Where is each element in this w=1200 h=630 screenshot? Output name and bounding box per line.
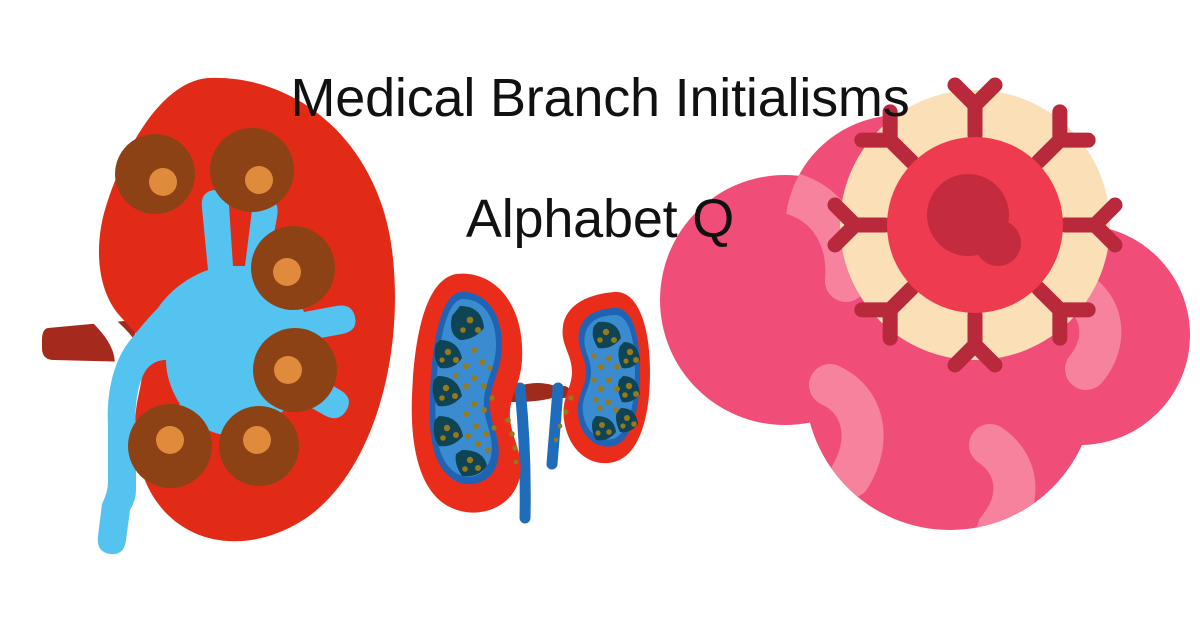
calyx-center xyxy=(243,426,271,454)
calyx-center xyxy=(156,426,184,454)
calyx xyxy=(253,328,337,412)
cell-highlight xyxy=(990,445,1014,529)
calyx-center xyxy=(274,356,302,384)
kidney-pair-illustration xyxy=(408,268,658,528)
calyx xyxy=(219,406,299,486)
poster-canvas: Medical Branch Initialisms Alphabet Q xyxy=(0,0,1200,630)
tumor-cells-svg xyxy=(650,85,1170,565)
nucleus-lobe-small xyxy=(975,220,1021,266)
calyx xyxy=(251,226,335,310)
calyx-center xyxy=(273,258,301,286)
ureter-left xyxy=(520,388,525,518)
tumor-cells-illustration xyxy=(650,85,1170,565)
kidney-right-of-pair xyxy=(554,292,650,463)
ureter-right xyxy=(552,388,558,464)
kidney-cutaway-svg xyxy=(40,70,420,570)
kidney-pair-svg xyxy=(408,268,658,528)
kidney-cutaway-illustration xyxy=(40,70,420,570)
kidney-left-of-pair xyxy=(412,274,522,513)
calyx xyxy=(115,134,195,214)
calyx-center xyxy=(149,168,177,196)
calyx xyxy=(210,128,294,212)
calyx xyxy=(128,404,212,488)
calyx-center xyxy=(245,166,273,194)
